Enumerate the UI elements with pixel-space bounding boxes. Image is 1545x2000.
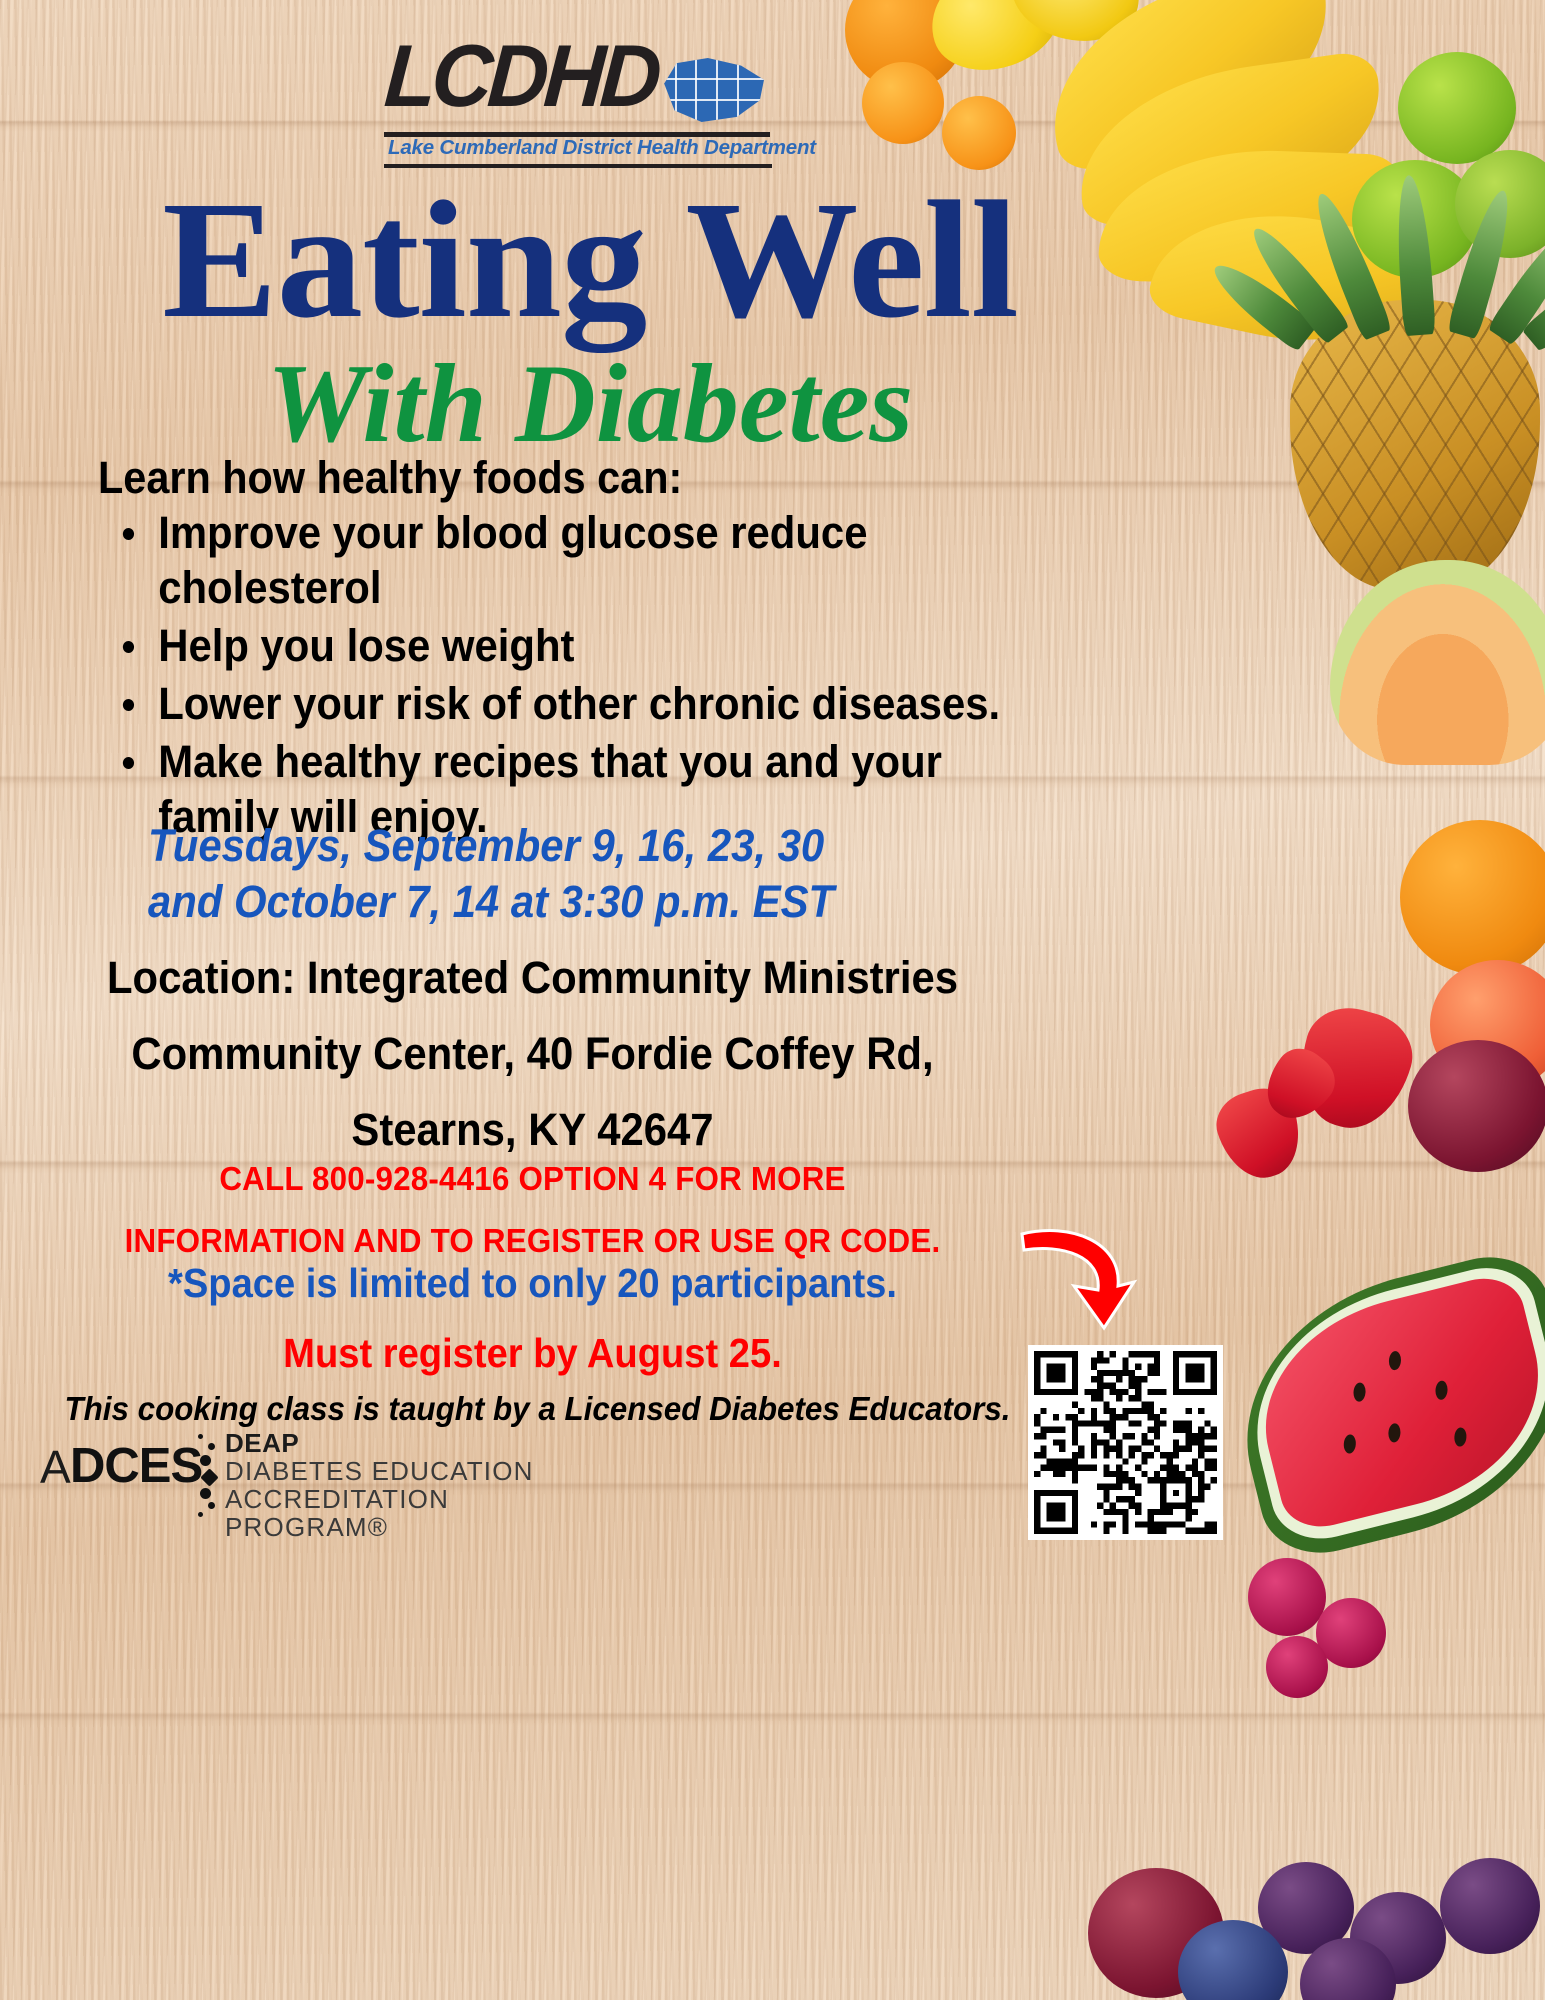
list-item: Lower your risk of other chronic disease… [108,676,1047,731]
plum-fruit-icon [1408,1040,1545,1172]
kumquat-fruit-icon [862,62,944,144]
list-item: Improve your blood glucose reduce choles… [108,505,1047,615]
kumquat-fruit-icon [942,96,1016,170]
watermelon-fruit-icon [1215,1244,1545,1566]
adces-deap-logo: A DCES DEAP DIABETES EDUCATION ACCREDITA… [40,1430,600,1510]
adces-brand-bold: DCES [70,1442,202,1491]
location-block: Location: Integrated Community Ministrie… [37,940,1027,1168]
lcdhd-wordmark: LCDHD [382,32,660,120]
adces-brand-thin: A [40,1444,71,1490]
location-line-1: Location: Integrated Community Ministrie… [37,940,1027,1016]
lcdhd-logo: LCDHD Lake Cumberland District Health De… [370,24,770,174]
orange-fruit-icon [1400,820,1545,975]
call-to-action-block: CALL 800-928-4416 OPTION 4 FOR MORE INFO… [27,1148,1039,1272]
capacity-note: *Space is limited to only 20 participant… [37,1258,1027,1308]
cantaloupe-fruit-icon [1330,560,1545,765]
location-line-2: Community Center, 40 Fordie Coffey Rd, [37,1016,1027,1092]
schedule-block: Tuesdays, September 9, 16, 23, 30 and Oc… [148,818,1041,930]
pineapple-crown-icon [1280,175,1545,335]
lead-text: Learn how healthy foods can: [98,452,682,504]
kentucky-district-map-icon [660,58,764,122]
lcdhd-subtitle: Lake Cumberland District Health Departme… [388,136,778,160]
schedule-line-2: and October 7, 14 at 3:30 p.m. EST [148,874,1041,930]
instructor-note: This cooking class is taught by a Licens… [27,1388,1048,1430]
headline-line-2: With Diabetes [0,348,1180,460]
deap-text-stack: DEAP DIABETES EDUCATION ACCREDITATION PR… [225,1430,605,1541]
callout-line-1: CALL 800-928-4416 OPTION 4 FOR MORE [27,1148,1039,1210]
list-item: Help you lose weight [108,618,1047,673]
benefits-list: Improve your blood glucose reduce choles… [108,505,1118,847]
curved-arrow-icon [1018,1228,1138,1333]
schedule-line-1: Tuesdays, September 9, 16, 23, 30 [148,818,1041,874]
lime-fruit-icon [1398,52,1516,164]
flyer-canvas: LCDHD Lake Cumberland District Health De… [0,0,1545,2000]
deap-line-1: DIABETES EDUCATION [225,1457,605,1485]
deap-line-2: ACCREDITATION PROGRAM® [225,1485,605,1541]
raspberry-fruit-icon [1248,1558,1326,1636]
deap-abbr: DEAP [225,1430,605,1457]
pineapple-fruit-icon [1290,300,1540,590]
registration-deadline-note: Must register by August 25. [37,1328,1027,1378]
grape-fruit-icon [1440,1858,1540,1954]
raspberry-fruit-icon [1266,1636,1328,1698]
headline-line-1: Eating Well [0,185,1198,335]
qr-code-icon[interactable] [1028,1345,1223,1540]
